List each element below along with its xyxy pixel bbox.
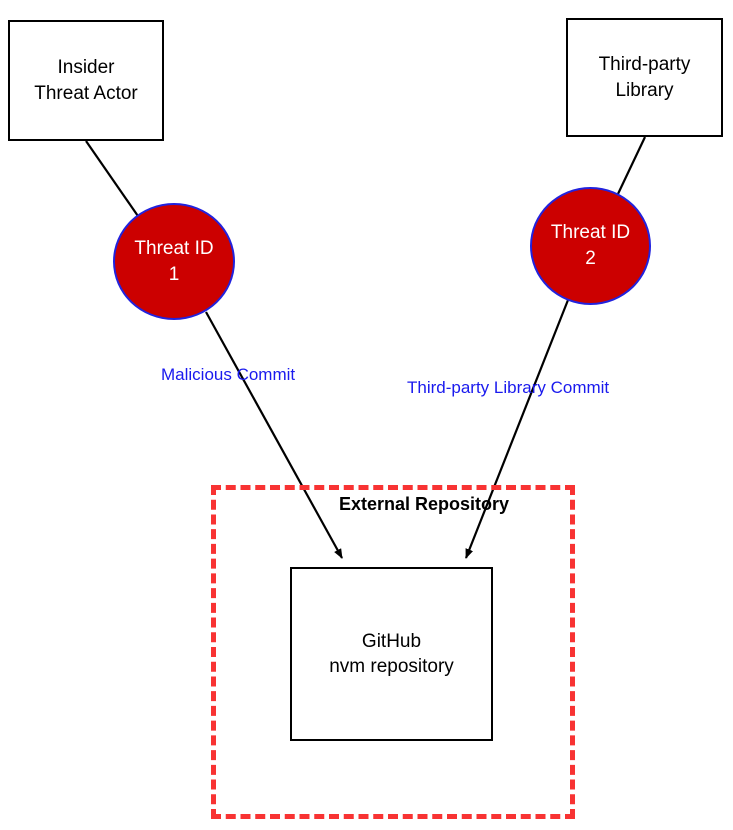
threat-node-1[interactable]: Threat ID 1 (113, 203, 235, 320)
threat-node-2[interactable]: Threat ID 2 (530, 187, 651, 305)
node-third-party-library[interactable]: Third-party Library (566, 18, 723, 137)
node-insider-threat-actor-label: Insider Threat Actor (34, 55, 138, 105)
diagram-canvas: External Repository Insider Threat Actor… (0, 0, 733, 830)
edge-label-malicious-commit: Malicious Commit (161, 365, 295, 385)
threat-node-1-label: Threat ID 1 (134, 236, 213, 287)
connector-library-to-threat2 (617, 137, 645, 196)
connector-insider-to-threat1 (86, 141, 140, 219)
trust-boundary-label: External Repository (339, 494, 509, 515)
node-third-party-library-label: Third-party Library (599, 52, 691, 102)
threat-node-2-label: Threat ID 2 (551, 220, 630, 271)
node-insider-threat-actor[interactable]: Insider Threat Actor (8, 20, 164, 141)
edge-label-third-party-library-commit: Third-party Library Commit (407, 378, 609, 398)
node-github-nvm-repository[interactable]: GitHub nvm repository (290, 567, 493, 741)
node-github-nvm-repository-label: GitHub nvm repository (329, 629, 454, 679)
